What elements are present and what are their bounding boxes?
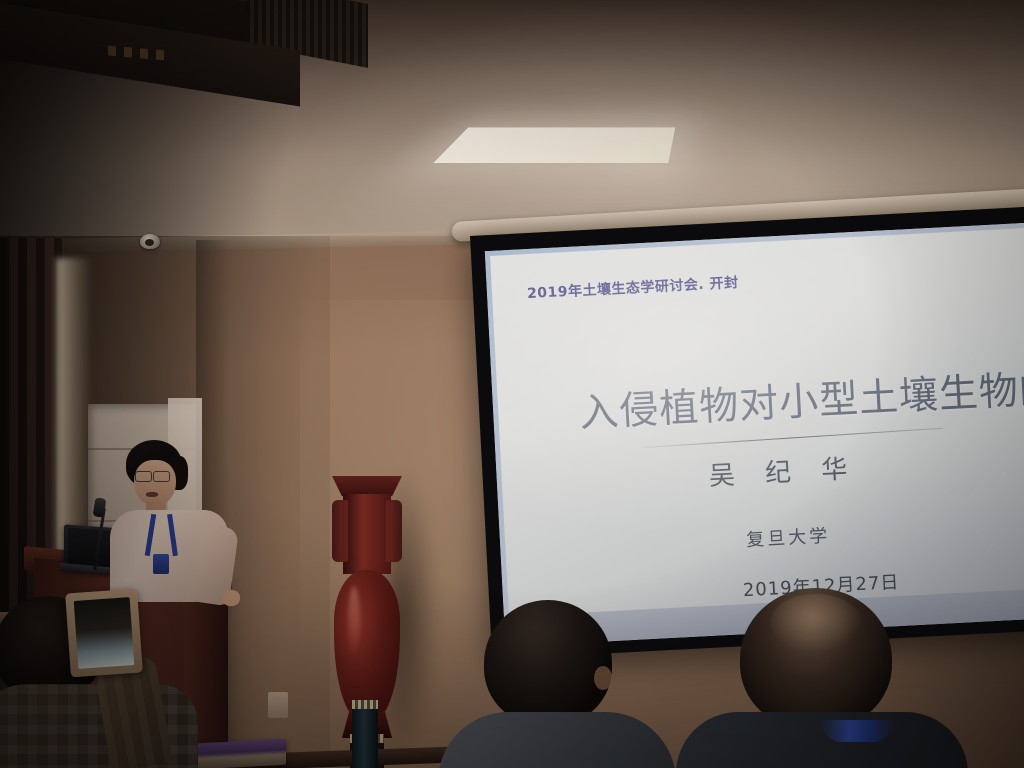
audience-member-center	[452, 600, 662, 768]
slide-accent-left	[485, 251, 511, 647]
conference-room-photo: 2019年土壤生态学研讨会. 开封 入侵植物对小型土壤生物的影响及讠 吴 纪 华…	[0, 0, 1024, 768]
vacuum-flask-band	[352, 700, 378, 709]
audience-member-center-ear	[594, 666, 612, 690]
presenter-face	[134, 460, 176, 506]
audience-member-right-scalp	[770, 594, 862, 652]
presenter-glasses-left	[135, 471, 152, 482]
smartphone-screen	[74, 597, 135, 669]
ceiling-light-panel	[433, 127, 675, 163]
slide-header-text: 2019年土壤生态学研讨会. 开封	[527, 272, 739, 303]
slide-affiliation: 复旦大学	[746, 522, 831, 552]
audience-member-center-shoulders	[438, 712, 676, 768]
vase-handle-left	[332, 500, 348, 562]
slide-speaker-name: 吴 纪 华	[708, 448, 859, 493]
audience-member-right	[700, 588, 950, 768]
audience-member-right-lanyard	[820, 720, 894, 742]
audience-member-center-head	[484, 600, 612, 726]
presenter-glasses-right	[153, 471, 170, 482]
audience-photographer	[0, 588, 236, 768]
presenter-badge	[153, 554, 169, 574]
presenter-mouth	[146, 492, 158, 497]
vase-body	[334, 570, 400, 720]
presenter-figure	[104, 440, 236, 600]
vase-highlight	[348, 586, 360, 660]
dome-camera-icon	[140, 234, 160, 249]
wall-outlet	[268, 692, 288, 718]
smartphone[interactable]	[65, 589, 143, 678]
dome-camera-lens	[145, 239, 154, 246]
vacuum-flask	[352, 700, 378, 768]
presentation-slide: 2019年土壤生态学研讨会. 开封 入侵植物对小型土壤生物的影响及讠 吴 纪 华…	[485, 222, 1024, 647]
vase-neck	[343, 494, 391, 574]
vase-handle-right	[386, 500, 402, 562]
vase-mouth	[332, 476, 402, 496]
slide-title: 入侵植物对小型土壤生物的影响及讠	[578, 349, 1024, 438]
